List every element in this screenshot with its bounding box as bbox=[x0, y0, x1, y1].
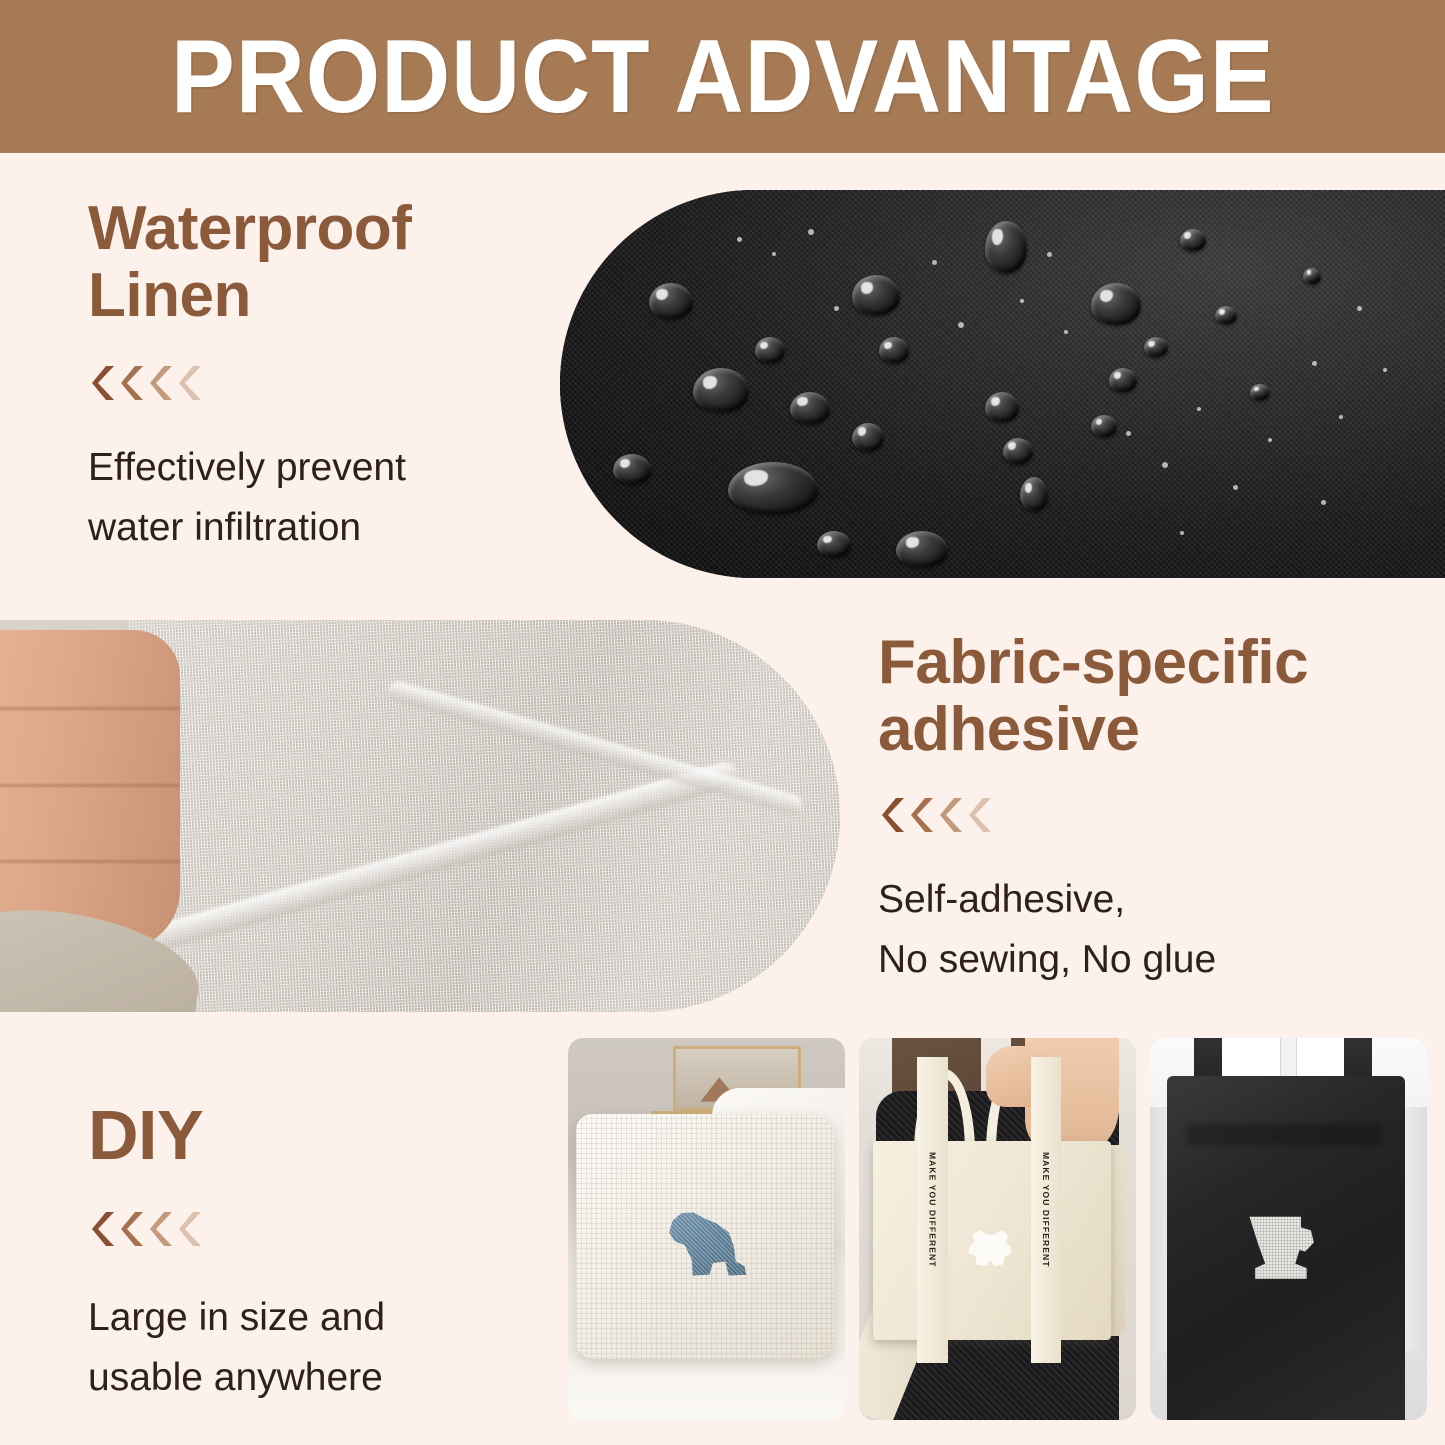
water-droplet bbox=[817, 531, 851, 557]
chevron-left-icon-1 bbox=[882, 796, 908, 834]
linen-fabric-photo bbox=[0, 620, 840, 1012]
feature-heading-adhesive: Fabric-specific adhesive bbox=[878, 630, 1423, 764]
water-droplet bbox=[879, 337, 909, 363]
chevron-left-icon-3 bbox=[150, 1210, 176, 1248]
bear-silhouette-patch bbox=[959, 1229, 1021, 1273]
chevron-left-icon-4 bbox=[179, 1210, 205, 1248]
water-mist bbox=[1047, 252, 1052, 257]
apron-bib-seam bbox=[1186, 1124, 1381, 1145]
waterproof-fabric-photo bbox=[560, 190, 1445, 578]
feature-heading-diy: DIY bbox=[88, 1098, 548, 1174]
water-droplet bbox=[1020, 477, 1048, 511]
body-line-1: Effectively prevent bbox=[88, 438, 548, 498]
water-mist bbox=[808, 229, 814, 235]
water-droplet bbox=[852, 275, 900, 315]
water-droplet bbox=[728, 462, 818, 514]
feature-body-diy: Large in size and usable anywhere bbox=[88, 1288, 548, 1409]
water-mist bbox=[1233, 485, 1238, 490]
water-mist bbox=[1020, 299, 1024, 303]
water-droplet bbox=[1215, 306, 1237, 324]
water-droplet bbox=[1303, 268, 1321, 284]
strap-text-right: MAKE YOU DIFFERENT bbox=[1041, 1152, 1051, 1268]
water-mist bbox=[1312, 361, 1317, 366]
pillow-photo bbox=[568, 1038, 845, 1420]
feature-block-diy: DIY Large in size and usable anywhere bbox=[88, 1098, 548, 1408]
water-droplet bbox=[1091, 283, 1141, 325]
water-mist bbox=[1339, 415, 1343, 419]
water-droplet bbox=[985, 221, 1027, 273]
dog-silhouette-patch bbox=[664, 1207, 752, 1280]
pillow-cover bbox=[576, 1114, 834, 1358]
water-droplet bbox=[1091, 415, 1117, 437]
heading-line-1: Waterproof bbox=[88, 196, 548, 263]
water-droplet bbox=[613, 454, 651, 484]
sofa-seat bbox=[568, 1359, 845, 1420]
strap-text-left: MAKE YOU DIFFERENT bbox=[927, 1152, 937, 1268]
water-droplet bbox=[790, 392, 830, 424]
chevron-left-icon-4 bbox=[969, 796, 995, 834]
chevron-left-icon-2 bbox=[121, 364, 147, 402]
apron-body bbox=[1167, 1076, 1405, 1420]
water-droplet bbox=[1003, 438, 1033, 464]
chevron-left-icon-1 bbox=[92, 1210, 118, 1248]
bag-strap-right: MAKE YOU DIFFERENT bbox=[1031, 1057, 1061, 1363]
chevron-left-icon-3 bbox=[150, 364, 176, 402]
heading-line-2: Linen bbox=[88, 263, 548, 330]
water-droplet bbox=[649, 283, 693, 319]
heading-line-1: Fabric-specific bbox=[878, 630, 1423, 697]
water-mist bbox=[932, 260, 937, 265]
chevron-divider-diy bbox=[92, 1210, 548, 1248]
linen-cloth-texture bbox=[129, 620, 840, 1012]
teacup-silhouette-patch bbox=[1245, 1214, 1316, 1290]
water-droplet bbox=[693, 368, 749, 412]
body-line-1: Self-adhesive, bbox=[878, 870, 1423, 930]
water-mist bbox=[1357, 306, 1362, 311]
chevron-left-icon-4 bbox=[179, 364, 205, 402]
bag-strap-left: MAKE YOU DIFFERENT bbox=[917, 1057, 947, 1363]
heading-line-2: adhesive bbox=[878, 697, 1423, 764]
body-line-2: No sewing, No glue bbox=[878, 930, 1423, 990]
body-line-1: Large in size and bbox=[88, 1288, 548, 1348]
chevron-left-icon-2 bbox=[911, 796, 937, 834]
feature-block-waterproof: Waterproof Linen Effectively prevent wat… bbox=[88, 196, 548, 559]
body-line-2: water infiltration bbox=[88, 498, 548, 558]
water-mist bbox=[1162, 462, 1168, 468]
water-droplet bbox=[985, 392, 1019, 422]
chevron-left-icon-2 bbox=[121, 1210, 147, 1248]
water-droplet bbox=[852, 423, 884, 451]
chevron-divider-waterproof bbox=[92, 364, 548, 402]
tote-bag-body bbox=[873, 1141, 1111, 1340]
water-droplet bbox=[896, 531, 948, 567]
tote-bag-photo: MAKE YOU DIFFERENT MAKE YOU DIFFERENT bbox=[859, 1038, 1136, 1420]
water-mist bbox=[737, 237, 742, 242]
header-band: PRODUCT ADVANTAGE bbox=[0, 0, 1445, 153]
chevron-left-icon-3 bbox=[940, 796, 966, 834]
feature-heading-waterproof: Waterproof Linen bbox=[88, 196, 548, 330]
water-droplet bbox=[755, 337, 785, 363]
feature-block-adhesive: Fabric-specific adhesive Self-adhesive, … bbox=[878, 630, 1423, 991]
feature-body-waterproof: Effectively prevent water infiltration bbox=[88, 438, 548, 559]
chevron-divider-adhesive bbox=[882, 796, 1423, 834]
water-droplet bbox=[1109, 368, 1137, 392]
water-droplet bbox=[595, 209, 631, 239]
body-line-2: usable anywhere bbox=[88, 1348, 548, 1408]
diy-applications-photos: MAKE YOU DIFFERENT MAKE YOU DIFFERENT bbox=[568, 1038, 1428, 1420]
page-title: PRODUCT ADVANTAGE bbox=[171, 25, 1275, 129]
water-droplet bbox=[1180, 229, 1206, 251]
hand-holding-fabric bbox=[0, 630, 180, 950]
feature-body-adhesive: Self-adhesive, No sewing, No glue bbox=[878, 870, 1423, 991]
apron-photo bbox=[1150, 1038, 1427, 1420]
chevron-left-icon-1 bbox=[92, 364, 118, 402]
water-droplet bbox=[1250, 384, 1270, 400]
